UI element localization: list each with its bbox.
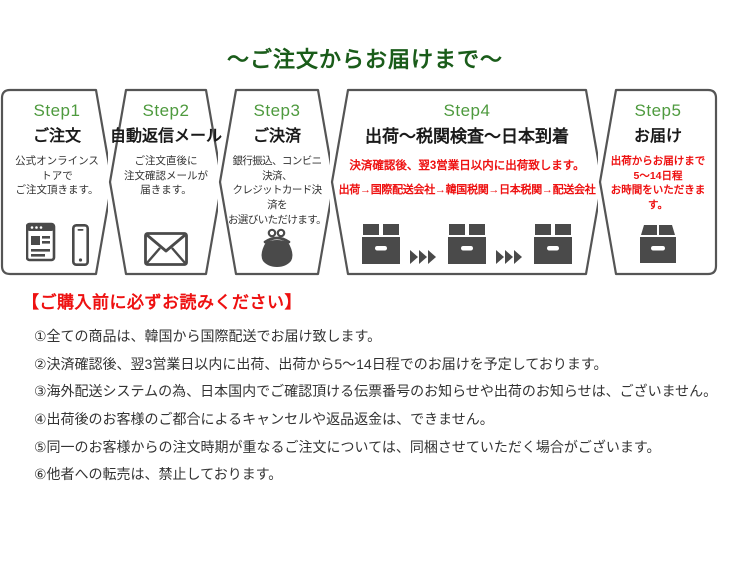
step-heading-2: 自動返信メール (110, 128, 222, 146)
step-icons-4 (359, 222, 575, 266)
step-heading-4: 出荷～税関検査～日本到着 (365, 128, 569, 147)
smartphone-icon (72, 224, 89, 266)
step-description-5: 出荷からお届けまで 5～14日程 お時間をいただきます。 (602, 154, 714, 214)
step-icons-3 (257, 228, 297, 268)
step-number-2: Step2 (143, 102, 190, 119)
step-number-5: Step5 (635, 102, 682, 119)
step-alert-4: 決済確認後、翌3営業日以内に出荷致します。 (349, 157, 584, 173)
notice-list: ①全ての商品は、韓国から国際配送でお届け致します。 ②決済確認後、翌3営業日以内… (22, 325, 712, 486)
list-item: ⑤同一のお客様からの注文時期が重なるご注文については、同梱させていただく場合がご… (34, 436, 712, 459)
step-heading-5: お届け (634, 128, 682, 146)
step-card-1: Step1 ご注文 公式オンラインストアで ご注文頂きます。 (0, 88, 114, 276)
box-icon (445, 222, 489, 266)
purchase-notice-section: 【ご購入前に必ずお読みください】 ①全ての商品は、韓国から国際配送でお届け致しま… (22, 288, 712, 491)
box-icon (531, 222, 575, 266)
list-item: ①全ての商品は、韓国から国際配送でお届け致します。 (34, 325, 712, 348)
box-icon (359, 222, 403, 266)
step-icons-2 (144, 232, 188, 266)
open-box-icon (636, 222, 680, 266)
step-number-1: Step1 (34, 102, 81, 119)
step-number-3: Step3 (254, 102, 301, 119)
step-icons-1 (26, 218, 89, 266)
list-item: ②決済確認後、翌3営業日以内に出荷、出荷から5～14日程でのお届けを予定しており… (34, 353, 712, 376)
step-description-2: ご注文直後に 注文確認メールが 届きます。 (118, 154, 214, 199)
step-description-1: 公式オンラインストアで ご注文頂きます。 (4, 154, 110, 199)
step-card-4: Step4 出荷～税関検査～日本到着 決済確認後、翌3営業日以内に出荷致します。… (330, 88, 604, 276)
notice-title: 【ご購入前に必ずお読みください】 (22, 288, 712, 313)
step-card-3: Step3 ご決済 銀行振込、コンビニ決済、 クレジットカード決済を お選びいた… (218, 88, 336, 276)
step-card-2: Step2 自動返信メール ご注文直後に 注文確認メールが 届きます。 (108, 88, 224, 276)
step-number-4: Step4 (444, 102, 491, 119)
shipping-flow-4: 出荷→国際配送会社→韓国税関→日本税関→配送会社 (339, 181, 596, 197)
triple-arrow-icon (409, 248, 439, 266)
list-item: ④出荷後のお客様のご都合によるキャンセルや返品返金は、できません。 (34, 408, 712, 431)
list-item: ③海外配送システムの為、日本国内でご確認頂ける伝票番号のお知らせや出荷のお知らせ… (34, 380, 712, 403)
coin-purse-icon (257, 228, 297, 268)
order-process-steps: Step1 ご注文 公式オンラインストアで ご注文頂きます。 (0, 88, 730, 276)
page-title: ～ご注文からお届けまで～ (0, 0, 730, 73)
step-description-3: 銀行振込、コンビニ決済、 クレジットカード決済を お選びいただけます。 (222, 154, 332, 229)
browser-window-icon (26, 218, 64, 266)
step-heading-3: ご決済 (253, 128, 301, 146)
step-icons-5 (636, 222, 680, 266)
envelope-icon (144, 232, 188, 266)
step-heading-1: ご注文 (33, 128, 81, 146)
list-item: ⑥他者への転売は、禁止しております。 (34, 463, 712, 486)
step-card-5: Step5 お届け 出荷からお届けまで 5～14日程 お時間をいただきます。 (598, 88, 718, 276)
triple-arrow-icon (495, 248, 525, 266)
